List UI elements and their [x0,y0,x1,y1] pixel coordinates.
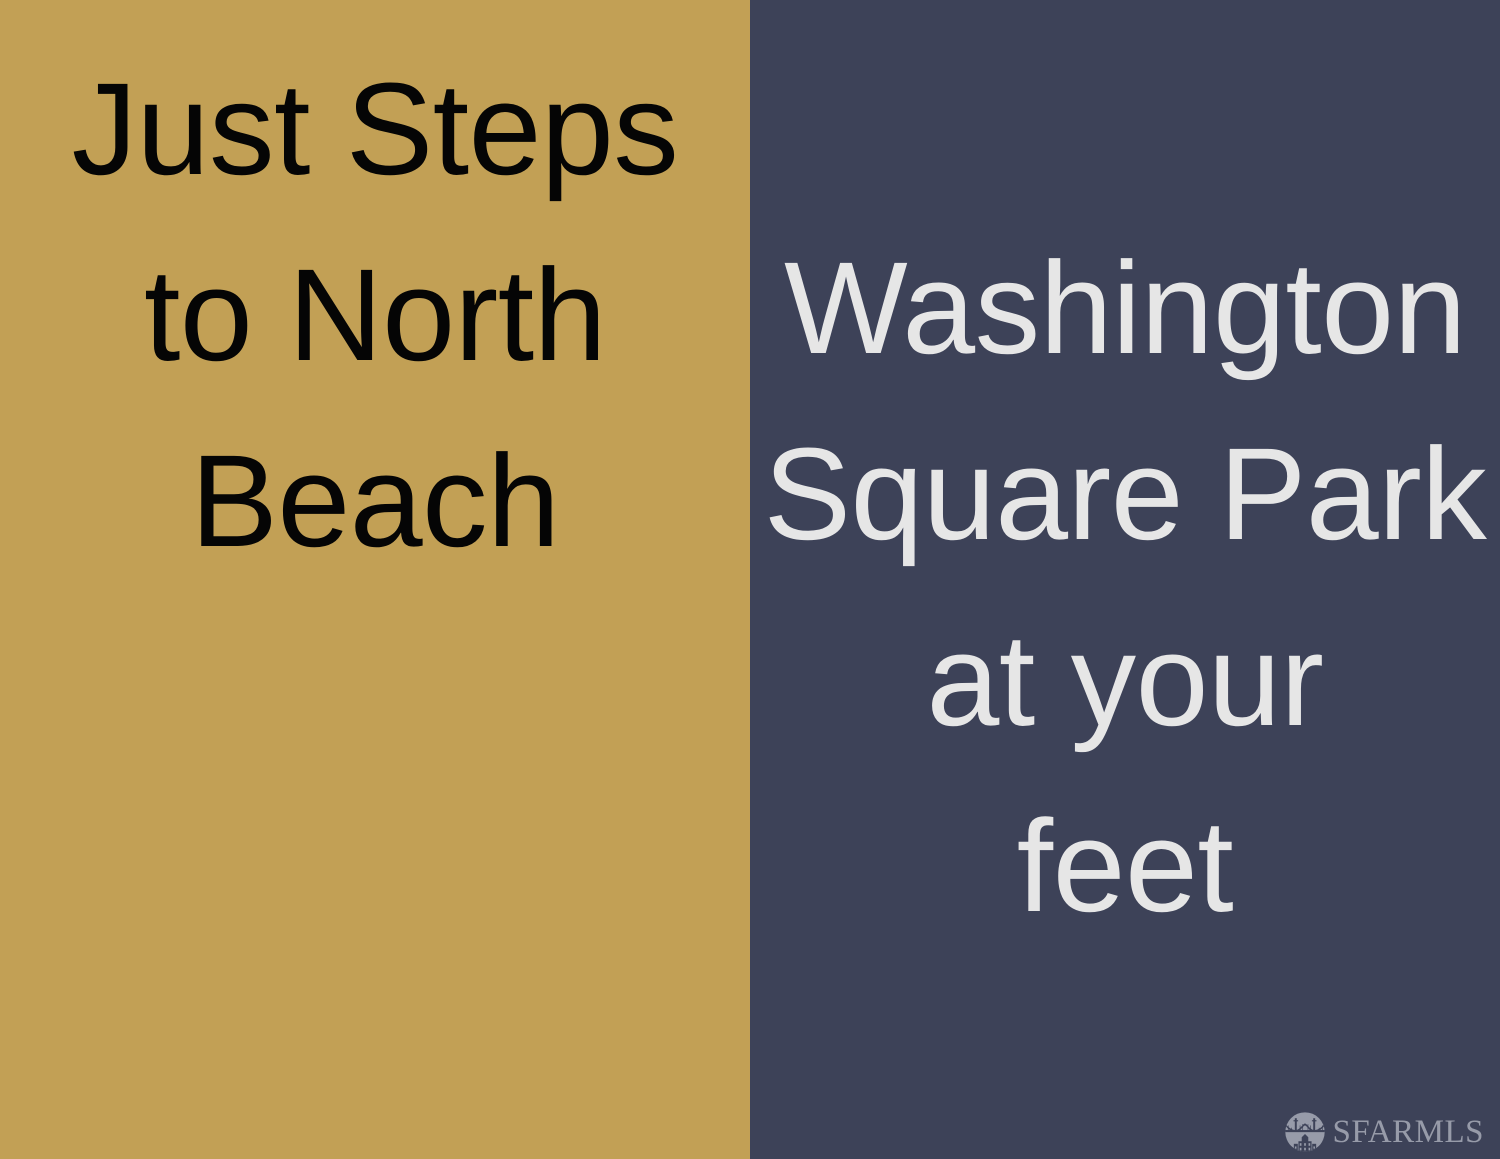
right-panel-headline: Washington Square Park at your feet [750,215,1500,959]
watermark: SFARMLS [1284,1111,1484,1153]
right-panel: Washington Square Park at your feet [750,0,1500,1159]
listing-slide: Just Steps to North Beach Washington Squ… [0,0,1500,1159]
golden-gate-bridge-circle-icon [1284,1111,1326,1153]
left-panel: Just Steps to North Beach [0,0,750,1159]
left-panel-headline: Just Steps to North Beach [0,36,750,594]
watermark-brand-label: SFARMLS [1333,1116,1484,1149]
